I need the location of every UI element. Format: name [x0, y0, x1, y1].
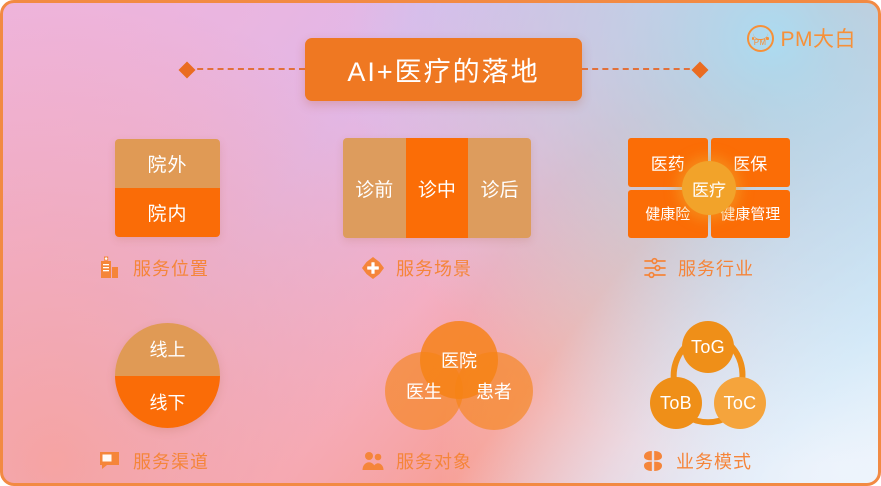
section-label-text: 服务对象	[396, 448, 472, 474]
section-scene-graphic: 诊前 诊中 诊后	[343, 138, 531, 238]
diamond-icon	[179, 62, 196, 79]
page-title: AI+医疗的落地	[305, 38, 581, 101]
venn-label-patient: 患者	[476, 378, 512, 404]
section-channel-graphic: 线上 线下	[115, 323, 220, 428]
segment-outside-hospital: 院外	[115, 139, 220, 188]
segment-in-visit: 诊中	[406, 138, 469, 238]
section-label-scene: 服务场景	[361, 255, 472, 281]
sliders-settings-icon	[643, 256, 667, 280]
section-label-audience: 服务对象	[361, 448, 472, 474]
section-label-text: 服务渠道	[133, 448, 209, 474]
node-toc: ToC	[714, 377, 766, 429]
four-dot-flower-icon	[641, 449, 665, 473]
section-label-channel: 服务渠道	[98, 448, 209, 474]
section-label-location: 服务位置	[98, 255, 209, 281]
segment-post-visit: 诊后	[468, 138, 531, 238]
medical-cross-clover-icon	[361, 256, 385, 280]
segment-inside-hospital: 院内	[115, 188, 220, 237]
monitor-screen-icon	[98, 449, 122, 473]
section-label-text: 服务场景	[396, 255, 472, 281]
hospital-building-icon	[98, 256, 122, 280]
node-tog: ToG	[682, 321, 734, 373]
diamond-icon	[691, 62, 708, 79]
two-people-icon	[361, 449, 385, 473]
title-row: AI+医疗的落地	[3, 40, 881, 98]
venn-label-hospital: 医院	[441, 347, 477, 373]
segment-pre-visit: 诊前	[343, 138, 406, 238]
section-label-industry: 服务行业	[643, 255, 754, 281]
title-connector-right	[582, 68, 700, 70]
title-connector-left	[187, 68, 305, 70]
venn-label-doctor: 医生	[406, 378, 442, 404]
half-online: 线上	[115, 323, 220, 376]
half-offline: 线下	[115, 376, 220, 429]
section-location-graphic: 院外 院内	[115, 139, 220, 237]
section-label-text: 服务行业	[678, 255, 754, 281]
section-audience-graphic: 医院 医生 患者	[385, 321, 533, 431]
section-label-model: 业务模式	[641, 448, 752, 474]
node-tob: ToB	[650, 377, 702, 429]
section-label-text: 服务位置	[133, 255, 209, 281]
industry-core-circle: 医疗	[682, 161, 736, 215]
section-label-text: 业务模式	[676, 448, 752, 474]
infographic-canvas: PM PM大白 AI+医疗的落地 院外 院内 服务位置 诊前	[0, 0, 881, 486]
section-industry-graphic: 医药 医保 健康险 健康管理 医疗	[628, 138, 790, 238]
section-model-graphic: ToG ToB ToC	[648, 321, 768, 431]
